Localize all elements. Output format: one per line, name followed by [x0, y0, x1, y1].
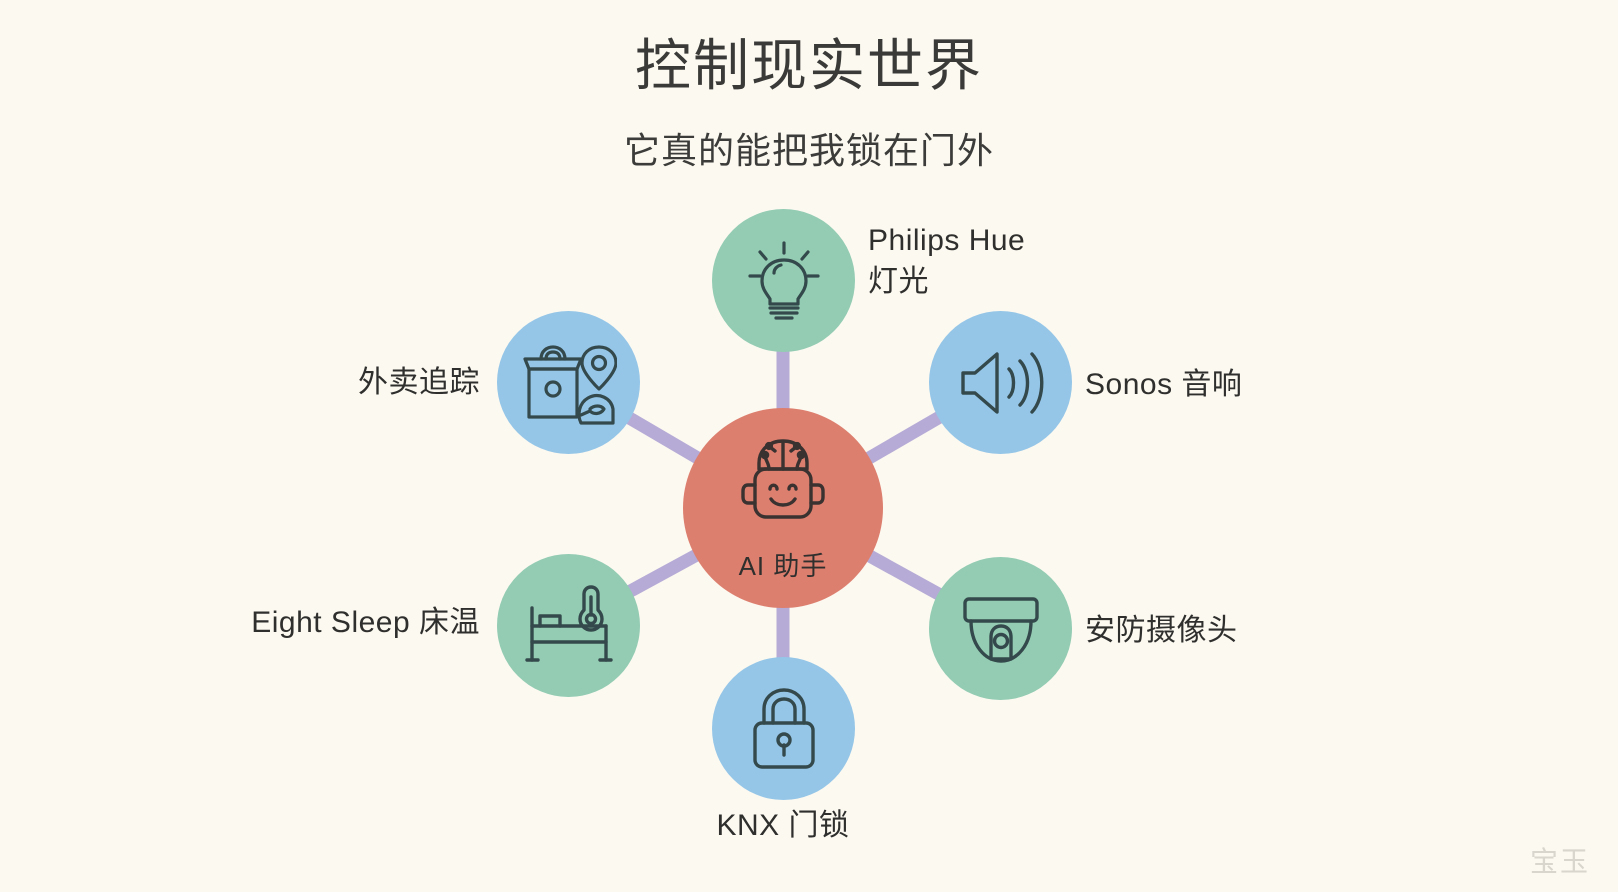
- node-philips-hue[interactable]: [712, 209, 855, 352]
- node-label-security-camera: 安防摄像头: [1085, 611, 1238, 652]
- bed-thermometer-icon: [522, 584, 616, 668]
- padlock-icon: [745, 685, 823, 773]
- center-node-label: AI 助手: [739, 546, 828, 583]
- node-label-food-delivery: 外卖追踪: [180, 363, 480, 404]
- node-security-camera[interactable]: [929, 557, 1072, 700]
- watermark: 宝玉: [1530, 840, 1590, 880]
- node-label-knx-lock: KNX 门锁: [633, 806, 933, 847]
- node-sonos[interactable]: [929, 311, 1072, 454]
- dome-camera-icon: [955, 589, 1047, 669]
- diagram-canvas: 控制现实世界 它真的能把我锁在门外: [0, 0, 1618, 892]
- node-food-delivery[interactable]: [497, 311, 640, 454]
- speaker-icon: [955, 343, 1047, 423]
- robot-brain-icon: [729, 433, 837, 542]
- delivery-bag-pin-helmet-icon: [521, 339, 617, 427]
- lightbulb-icon: [742, 238, 826, 324]
- node-label-philips-hue: Philips Hue 灯光: [868, 221, 1025, 302]
- node-knx-lock[interactable]: [712, 657, 855, 800]
- node-eight-sleep[interactable]: [497, 554, 640, 697]
- node-label-eight-sleep: Eight Sleep 床温: [180, 603, 480, 644]
- center-node-ai-assistant[interactable]: AI 助手: [683, 408, 883, 608]
- node-label-sonos: Sonos 音响: [1085, 365, 1242, 406]
